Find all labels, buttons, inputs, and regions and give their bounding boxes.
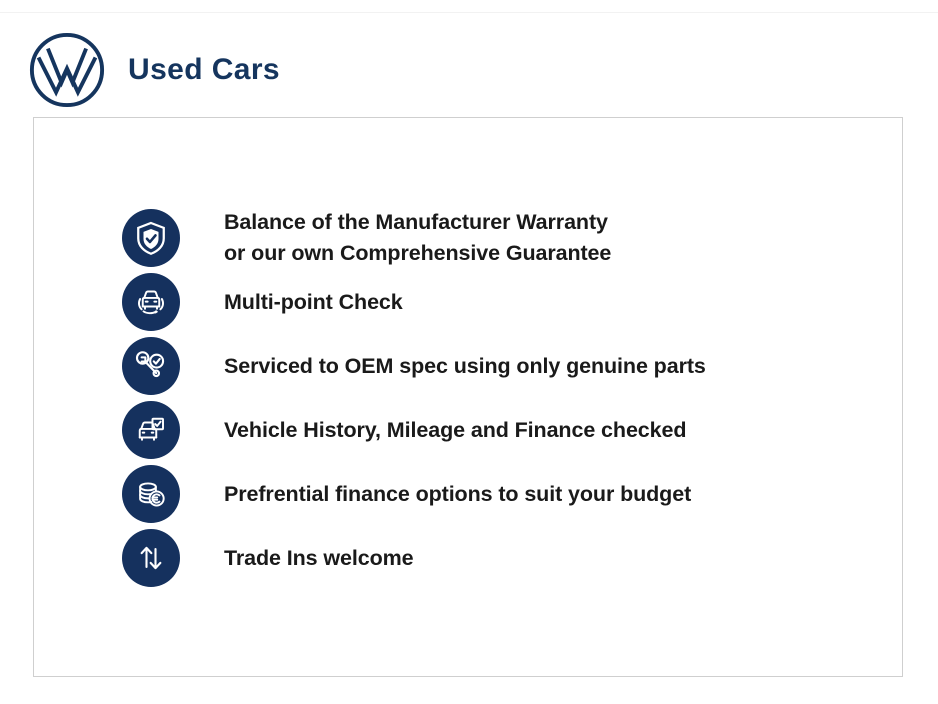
car-document-check-icon bbox=[122, 401, 180, 459]
page-title: Used Cars bbox=[128, 55, 280, 85]
page-header: Used Cars bbox=[28, 30, 280, 110]
feature-label: Trade Ins welcome bbox=[224, 543, 414, 574]
used-cars-promo-page: Used Cars Balance of the Manufacturer Wa… bbox=[0, 0, 938, 704]
wrench-check-icon bbox=[122, 337, 180, 395]
coins-euro-icon bbox=[122, 465, 180, 523]
feature-item-vehicle-history: Vehicle History, Mileage and Finance che… bbox=[122, 398, 882, 462]
up-down-arrows-icon bbox=[122, 529, 180, 587]
feature-item-warranty: Balance of the Manufacturer Warranty or … bbox=[122, 206, 882, 270]
feature-item-oem-service: Serviced to OEM spec using only genuine … bbox=[122, 334, 882, 398]
feature-item-multipoint-check: Multi-point Check bbox=[122, 270, 882, 334]
features-list: Balance of the Manufacturer Warranty or … bbox=[122, 206, 882, 590]
feature-label: Vehicle History, Mileage and Finance che… bbox=[224, 415, 686, 446]
feature-item-finance-options: Prefrential finance options to suit your… bbox=[122, 462, 882, 526]
features-panel: Balance of the Manufacturer Warranty or … bbox=[33, 117, 903, 677]
feature-label: Serviced to OEM spec using only genuine … bbox=[224, 351, 706, 382]
car-inspection-arrows-icon bbox=[122, 273, 180, 331]
feature-label: Balance of the Manufacturer Warranty or … bbox=[224, 207, 611, 268]
shield-check-icon bbox=[122, 209, 180, 267]
top-divider bbox=[0, 12, 938, 13]
feature-item-trade-ins: Trade Ins welcome bbox=[122, 526, 882, 590]
feature-label: Multi-point Check bbox=[224, 287, 403, 318]
feature-label: Prefrential finance options to suit your… bbox=[224, 479, 691, 510]
volkswagen-logo-icon bbox=[28, 31, 106, 109]
